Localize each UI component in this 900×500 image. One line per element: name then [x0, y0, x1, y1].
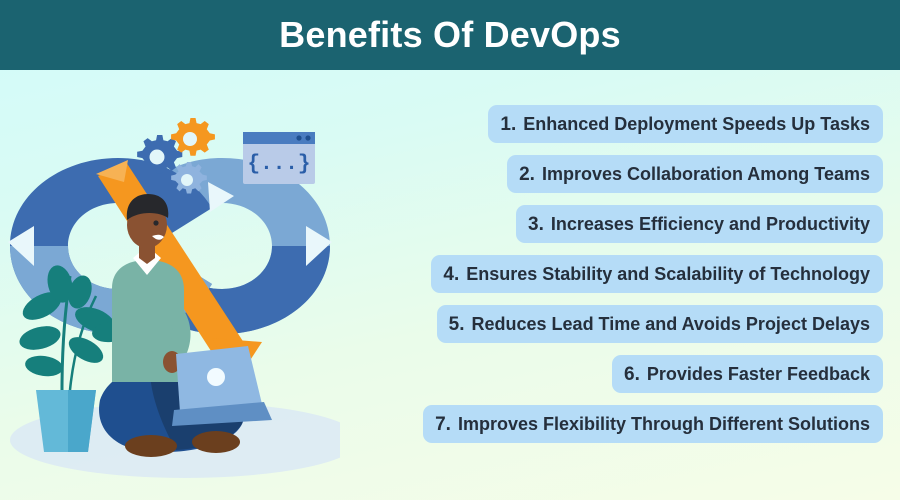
list-item-label: Provides Faster Feedback	[647, 365, 870, 383]
page-title: Benefits Of DevOps	[279, 17, 621, 53]
person-eye	[153, 220, 158, 225]
list-item-number: 3.	[528, 215, 544, 234]
list-item-number: 7.	[435, 415, 451, 434]
list-item[interactable]: 3. Increases Efficiency and Productivity	[516, 205, 883, 243]
list-item-label: Enhanced Deployment Speeds Up Tasks	[523, 115, 870, 133]
person-shoe	[125, 435, 177, 457]
list-item-number: 4.	[443, 265, 459, 284]
list-item[interactable]: 7. Improves Flexibility Through Differen…	[423, 405, 883, 443]
devops-infinity-illustration: {...}	[0, 70, 340, 500]
list-item-label: Increases Efficiency and Productivity	[551, 215, 870, 233]
list-item[interactable]: 4. Ensures Stability and Scalability of …	[431, 255, 883, 293]
list-item-label: Improves Flexibility Through Different S…	[458, 415, 870, 433]
list-item-number: 2.	[519, 165, 535, 184]
header-bar: Benefits Of DevOps	[0, 0, 900, 70]
list-item[interactable]: 1. Enhanced Deployment Speeds Up Tasks	[488, 105, 883, 143]
gear-orange-icon	[171, 118, 215, 156]
plant-leaf	[17, 322, 63, 354]
laptop-logo	[207, 368, 225, 386]
list-item-number: 5.	[449, 315, 465, 334]
plant-leaf	[24, 353, 64, 378]
benefits-list: 1. Enhanced Deployment Speeds Up Tasks 2…	[323, 105, 883, 443]
list-item[interactable]: 5. Reduces Lead Time and Avoids Project …	[437, 305, 883, 343]
list-item-label: Reduces Lead Time and Avoids Project Del…	[472, 315, 870, 333]
person-shoe	[192, 431, 240, 453]
code-window-icon: {...}	[243, 132, 315, 184]
list-item[interactable]: 2. Improves Collaboration Among Teams	[507, 155, 883, 193]
list-item-label: Ensures Stability and Scalability of Tec…	[466, 265, 870, 283]
list-item[interactable]: 6. Provides Faster Feedback	[612, 355, 883, 393]
poster-root: Benefits Of DevOps	[0, 0, 900, 500]
code-window-text: {...}	[247, 153, 310, 176]
list-item-number: 1.	[500, 115, 516, 134]
list-item-label: Improves Collaboration Among Teams	[542, 165, 870, 183]
list-item-number: 6.	[624, 365, 640, 384]
